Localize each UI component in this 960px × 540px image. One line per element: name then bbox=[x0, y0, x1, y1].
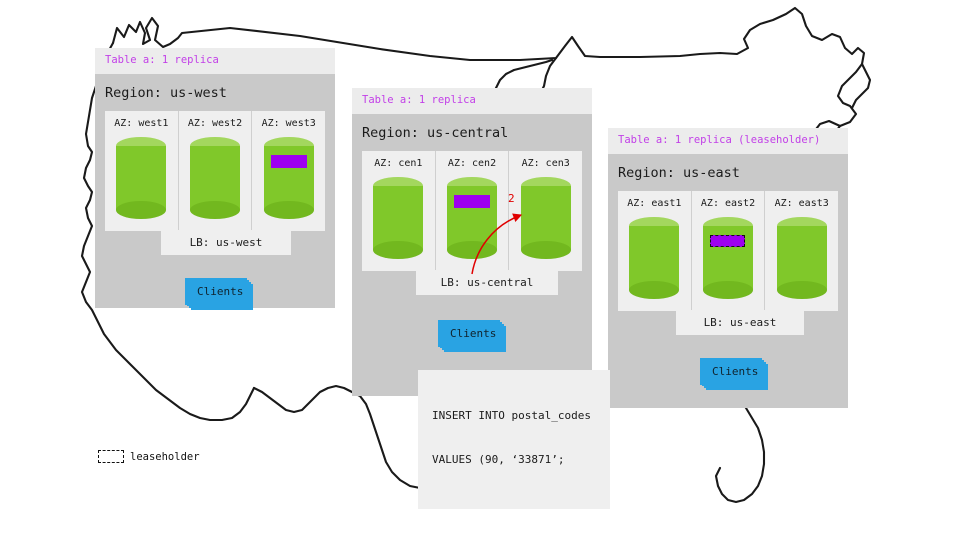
az-label-cen1: AZ: cen1 bbox=[374, 158, 422, 169]
az-cell-cen1[interactable]: AZ: cen1 bbox=[362, 151, 436, 271]
region-body-us-central: Region: us-central AZ: cen1 AZ: cen2 bbox=[352, 114, 592, 396]
sql-line-2: VALUES (90, ‘33871’; bbox=[432, 453, 598, 468]
load-balancer-us-east[interactable]: LB: us-east bbox=[676, 310, 804, 335]
node-cylinder-west2[interactable] bbox=[190, 137, 240, 219]
node-cylinder-west3[interactable] bbox=[264, 137, 314, 219]
az-cell-west3[interactable]: AZ: west3 bbox=[252, 111, 325, 231]
az-label-west2: AZ: west2 bbox=[188, 118, 242, 129]
az-cell-west1[interactable]: AZ: west1 bbox=[105, 111, 179, 231]
sql-statement-box: INSERT INTO postal_codes VALUES (90, ‘33… bbox=[418, 370, 610, 509]
az-cell-east3[interactable]: AZ: east3 bbox=[765, 191, 838, 311]
clients-label-us-east: Clients bbox=[700, 358, 762, 385]
node-cylinder-cen3[interactable] bbox=[521, 177, 571, 259]
region-body-us-west: Region: us-west AZ: west1 AZ: west2 bbox=[95, 74, 335, 308]
az-label-cen3: AZ: cen3 bbox=[522, 158, 570, 169]
node-cylinder-east2[interactable] bbox=[703, 217, 753, 299]
az-cell-cen3[interactable]: AZ: cen3 bbox=[509, 151, 582, 271]
legend-label: leaseholder bbox=[130, 451, 200, 463]
az-label-cen2: AZ: cen2 bbox=[448, 158, 496, 169]
az-cell-east2[interactable]: AZ: east2 bbox=[692, 191, 766, 311]
region-panel-us-central: Table a: 1 replica Region: us-central AZ… bbox=[352, 88, 592, 396]
region-panel-us-west: Table a: 1 replica Region: us-west AZ: w… bbox=[95, 48, 335, 308]
region-header-us-east: Table a: 1 replica (leaseholder) bbox=[608, 128, 848, 154]
az-strip-us-central: AZ: cen1 AZ: cen2 bbox=[362, 151, 582, 271]
node-cylinder-cen2[interactable] bbox=[447, 177, 497, 259]
az-cell-west2[interactable]: AZ: west2 bbox=[179, 111, 253, 231]
clients-label-us-central: Clients bbox=[438, 320, 500, 347]
replica-marker-west3 bbox=[271, 155, 307, 168]
dashed-rect-icon bbox=[98, 450, 124, 463]
az-strip-us-west: AZ: west1 AZ: west2 bbox=[105, 111, 325, 231]
load-balancer-us-west[interactable]: LB: us-west bbox=[161, 230, 291, 255]
arrow-step-label: 2 bbox=[508, 192, 515, 205]
legend: leaseholder bbox=[98, 450, 200, 463]
az-label-east1: AZ: east1 bbox=[627, 198, 681, 209]
az-label-east3: AZ: east3 bbox=[775, 198, 829, 209]
az-label-east2: AZ: east2 bbox=[701, 198, 755, 209]
region-panel-us-east: Table a: 1 replica (leaseholder) Region:… bbox=[608, 128, 848, 408]
sql-line-1: INSERT INTO postal_codes bbox=[432, 409, 598, 424]
load-balancer-us-central[interactable]: LB: us-central bbox=[416, 270, 558, 295]
node-cylinder-east1[interactable] bbox=[629, 217, 679, 299]
az-cell-cen2[interactable]: AZ: cen2 bbox=[436, 151, 510, 271]
diagram-canvas: Table a: 1 replica Region: us-west AZ: w… bbox=[0, 0, 960, 540]
replica-marker-leaseholder-east2 bbox=[710, 235, 745, 247]
region-title-us-east: Region: us-east bbox=[608, 154, 848, 191]
clients-us-west[interactable]: Clients bbox=[185, 278, 247, 308]
replica-marker-cen2 bbox=[454, 195, 490, 208]
az-label-west3: AZ: west3 bbox=[262, 118, 316, 129]
region-title-us-west: Region: us-west bbox=[95, 74, 335, 111]
node-cylinder-east3[interactable] bbox=[777, 217, 827, 299]
az-label-west1: AZ: west1 bbox=[114, 118, 168, 129]
az-cell-east1[interactable]: AZ: east1 bbox=[618, 191, 692, 311]
az-strip-us-east: AZ: east1 AZ: east2 bbox=[618, 191, 838, 311]
clients-us-central[interactable]: Clients bbox=[438, 320, 500, 350]
node-cylinder-west1[interactable] bbox=[116, 137, 166, 219]
clients-us-east[interactable]: Clients bbox=[700, 358, 762, 388]
region-header-us-central: Table a: 1 replica bbox=[352, 88, 592, 114]
region-header-us-west: Table a: 1 replica bbox=[95, 48, 335, 74]
region-title-us-central: Region: us-central bbox=[352, 114, 592, 151]
node-cylinder-cen1[interactable] bbox=[373, 177, 423, 259]
clients-label-us-west: Clients bbox=[185, 278, 247, 305]
